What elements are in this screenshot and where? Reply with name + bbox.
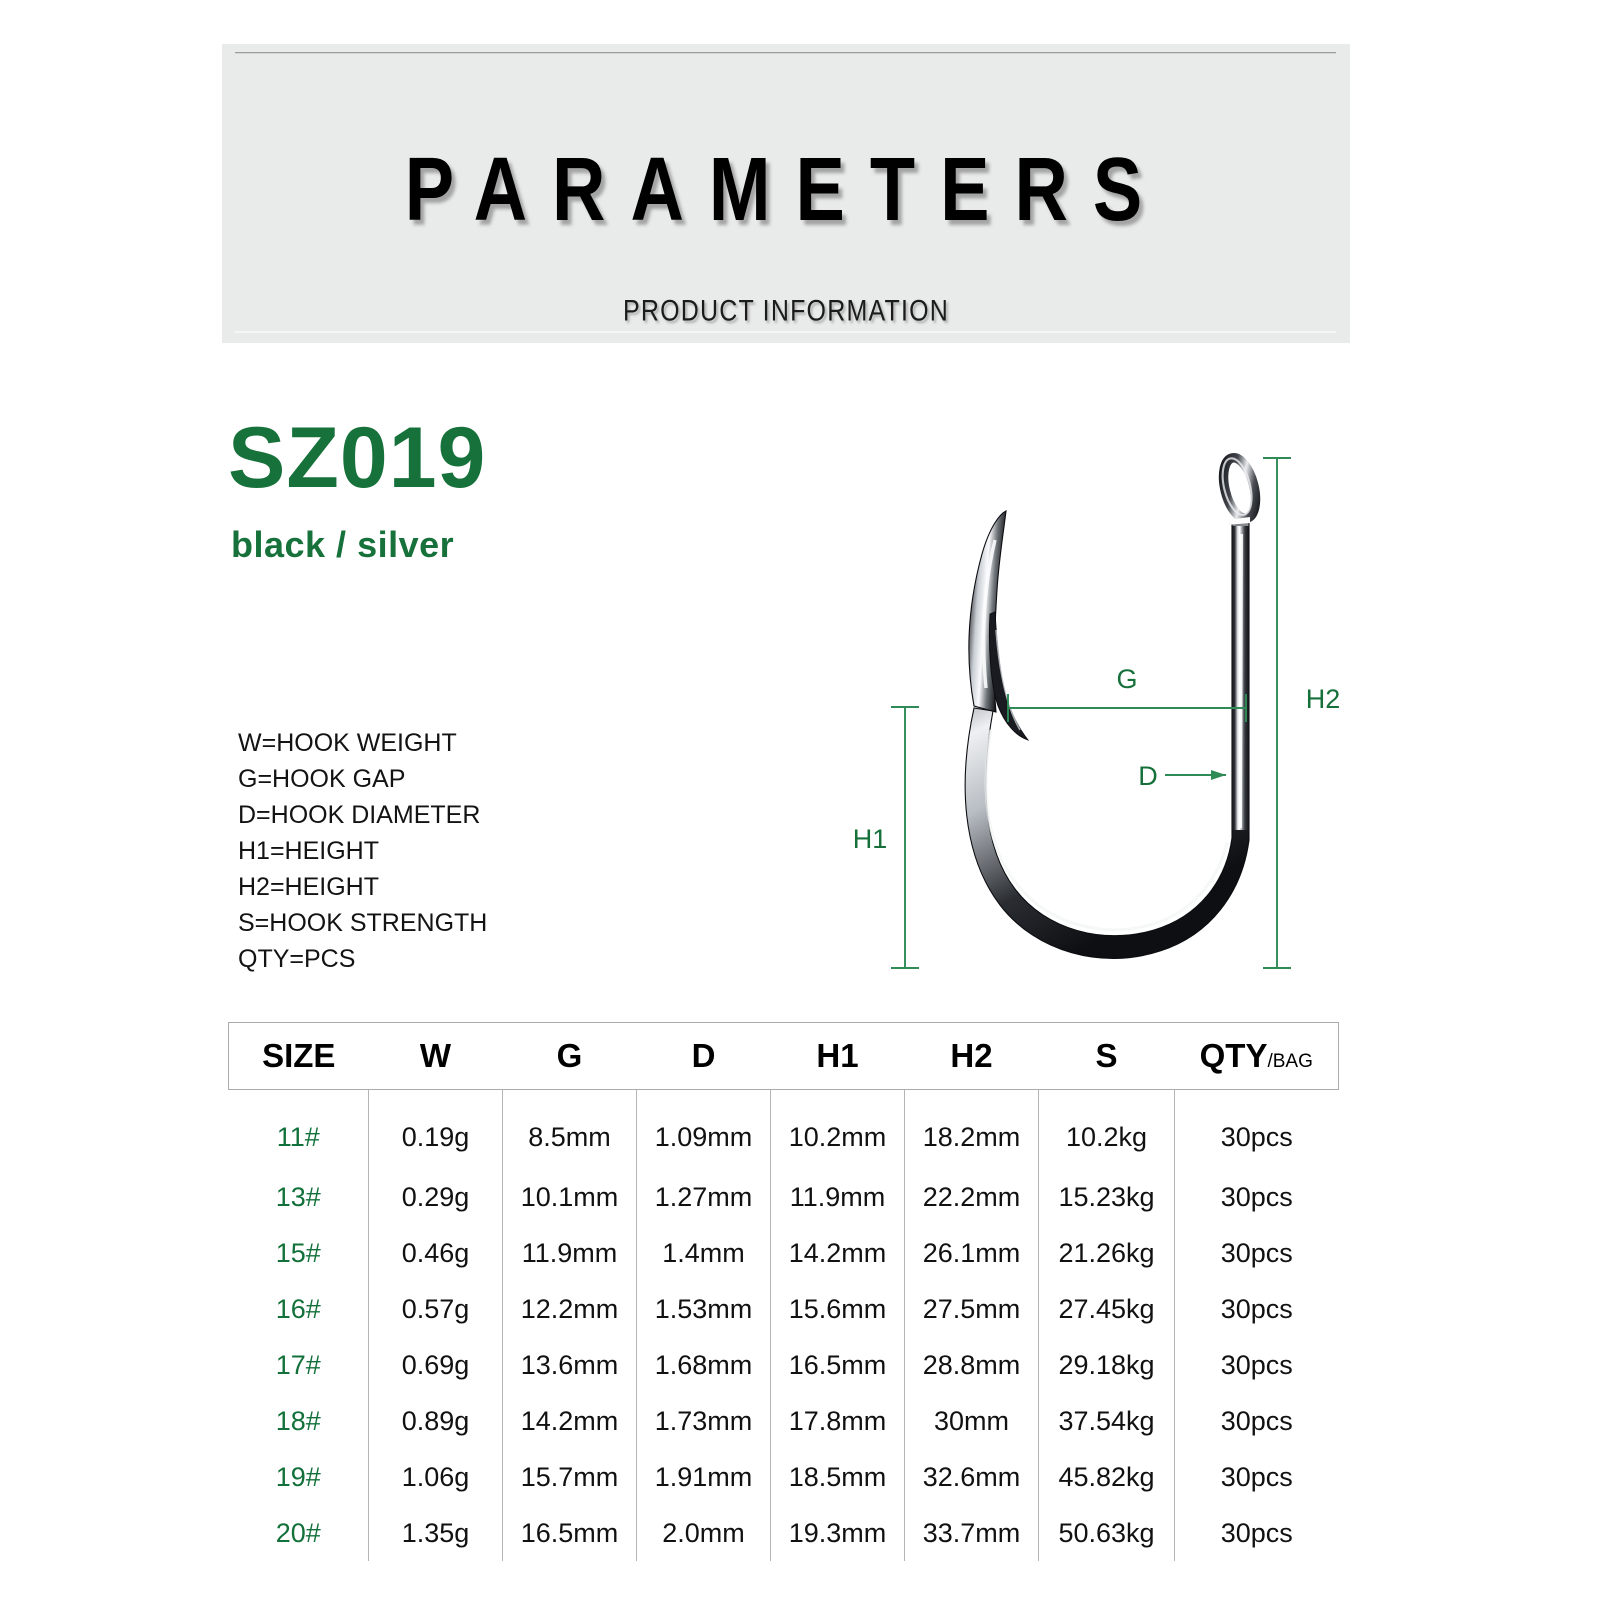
- table-header-row: SIZE W G D H1 H2 S QTY/BAG: [229, 1023, 1339, 1090]
- cell-h2: 32.6mm: [905, 1449, 1039, 1505]
- column-header-g: G: [503, 1023, 637, 1090]
- cell-w: 1.35g: [369, 1505, 503, 1561]
- banner-bottom-rule: [235, 331, 1336, 333]
- legend-item: H2=HEIGHT: [238, 869, 487, 905]
- cell-w: 0.19g: [369, 1090, 503, 1170]
- cell-s: 15.23kg: [1039, 1169, 1175, 1225]
- fishing-hook-illustration: [965, 454, 1261, 958]
- banner-top-rule: [235, 52, 1336, 53]
- cell-w: 0.29g: [369, 1169, 503, 1225]
- cell-h2: 33.7mm: [905, 1505, 1039, 1561]
- cell-d: 1.4mm: [637, 1225, 771, 1281]
- cell-w: 0.57g: [369, 1281, 503, 1337]
- cell-d: 1.73mm: [637, 1393, 771, 1449]
- cell-qty: 30pcs: [1175, 1505, 1339, 1561]
- cell-w: 0.69g: [369, 1337, 503, 1393]
- cell-h2: 30mm: [905, 1393, 1039, 1449]
- cell-size: 13#: [229, 1169, 369, 1225]
- cell-w: 0.89g: [369, 1393, 503, 1449]
- column-header-qty-suffix: /BAG: [1267, 1051, 1312, 1072]
- specification-table-wrapper: SIZE W G D H1 H2 S QTY/BAG 11# 0.19g 8.5…: [228, 1022, 1338, 1561]
- cell-g: 11.9mm: [503, 1225, 637, 1281]
- cell-h1: 15.6mm: [771, 1281, 905, 1337]
- dimension-diameter: [1165, 770, 1226, 780]
- table-row: 16# 0.57g 12.2mm 1.53mm 15.6mm 27.5mm 27…: [229, 1281, 1339, 1337]
- abbreviation-legend: W=HOOK WEIGHT G=HOOK GAP D=HOOK DIAMETER…: [238, 725, 487, 977]
- cell-s: 50.63kg: [1039, 1505, 1175, 1561]
- cell-h1: 16.5mm: [771, 1337, 905, 1393]
- cell-s: 45.82kg: [1039, 1449, 1175, 1505]
- cell-s: 21.26kg: [1039, 1225, 1175, 1281]
- legend-item: H1=HEIGHT: [238, 833, 487, 869]
- table-row: 19# 1.06g 15.7mm 1.91mm 18.5mm 32.6mm 45…: [229, 1449, 1339, 1505]
- dimension-gap: [1008, 694, 1246, 722]
- cell-h1: 19.3mm: [771, 1505, 905, 1561]
- column-header-size: SIZE: [229, 1023, 369, 1090]
- cell-qty: 30pcs: [1175, 1225, 1339, 1281]
- cell-qty: 30pcs: [1175, 1449, 1339, 1505]
- cell-g: 10.1mm: [503, 1169, 637, 1225]
- dimension-height1: [891, 707, 919, 968]
- cell-g: 14.2mm: [503, 1393, 637, 1449]
- table-row: 20# 1.35g 16.5mm 2.0mm 19.3mm 33.7mm 50.…: [229, 1505, 1339, 1561]
- dimension-label-gap: G: [1116, 664, 1137, 694]
- cell-g: 12.2mm: [503, 1281, 637, 1337]
- table-body: 11# 0.19g 8.5mm 1.09mm 10.2mm 18.2mm 10.…: [229, 1090, 1339, 1562]
- parameters-banner: PARAMETERS PRODUCT INFORMATION: [222, 44, 1350, 343]
- cell-h2: 18.2mm: [905, 1090, 1039, 1170]
- column-header-qty-main: QTY: [1200, 1037, 1268, 1074]
- cell-g: 16.5mm: [503, 1505, 637, 1561]
- cell-h2: 26.1mm: [905, 1225, 1039, 1281]
- dimension-label-diameter: D: [1138, 761, 1158, 791]
- cell-d: 1.53mm: [637, 1281, 771, 1337]
- cell-s: 29.18kg: [1039, 1337, 1175, 1393]
- dimension-label-height1: H1: [853, 824, 888, 854]
- cell-size: 19#: [229, 1449, 369, 1505]
- cell-qty: 30pcs: [1175, 1337, 1339, 1393]
- cell-qty: 30pcs: [1175, 1169, 1339, 1225]
- cell-size: 17#: [229, 1337, 369, 1393]
- cell-g: 8.5mm: [503, 1090, 637, 1170]
- table-row: 15# 0.46g 11.9mm 1.4mm 14.2mm 26.1mm 21.…: [229, 1225, 1339, 1281]
- cell-d: 1.91mm: [637, 1449, 771, 1505]
- cell-size: 15#: [229, 1225, 369, 1281]
- cell-h1: 17.8mm: [771, 1393, 905, 1449]
- product-model: SZ019: [228, 415, 486, 501]
- cell-qty: 30pcs: [1175, 1090, 1339, 1170]
- column-header-h1: H1: [771, 1023, 905, 1090]
- cell-d: 1.68mm: [637, 1337, 771, 1393]
- cell-d: 1.27mm: [637, 1169, 771, 1225]
- cell-d: 1.09mm: [637, 1090, 771, 1170]
- product-variant: black / silver: [231, 527, 454, 563]
- column-header-s: S: [1039, 1023, 1175, 1090]
- hook-diagram: G H1 H2 D: [840, 430, 1360, 990]
- dimension-label-height2: H2: [1306, 684, 1341, 714]
- cell-g: 15.7mm: [503, 1449, 637, 1505]
- page-subtitle: PRODUCT INFORMATION: [222, 294, 1350, 329]
- column-header-qty: QTY/BAG: [1175, 1023, 1339, 1090]
- cell-h1: 10.2mm: [771, 1090, 905, 1170]
- cell-size: 16#: [229, 1281, 369, 1337]
- table-row: 18# 0.89g 14.2mm 1.73mm 17.8mm 30mm 37.5…: [229, 1393, 1339, 1449]
- cell-qty: 30pcs: [1175, 1393, 1339, 1449]
- table-row: 17# 0.69g 13.6mm 1.68mm 16.5mm 28.8mm 29…: [229, 1337, 1339, 1393]
- cell-size: 11#: [229, 1090, 369, 1170]
- cell-size: 20#: [229, 1505, 369, 1561]
- cell-d: 2.0mm: [637, 1505, 771, 1561]
- cell-qty: 30pcs: [1175, 1281, 1339, 1337]
- column-header-w: W: [369, 1023, 503, 1090]
- cell-w: 1.06g: [369, 1449, 503, 1505]
- cell-h2: 28.8mm: [905, 1337, 1039, 1393]
- cell-h1: 14.2mm: [771, 1225, 905, 1281]
- page-title: PARAMETERS: [222, 137, 1350, 241]
- dimension-height2: [1263, 458, 1291, 968]
- legend-item: QTY=PCS: [238, 941, 487, 977]
- cell-h2: 22.2mm: [905, 1169, 1039, 1225]
- cell-h1: 18.5mm: [771, 1449, 905, 1505]
- legend-item: S=HOOK STRENGTH: [238, 905, 487, 941]
- cell-h1: 11.9mm: [771, 1169, 905, 1225]
- table-row: 11# 0.19g 8.5mm 1.09mm 10.2mm 18.2mm 10.…: [229, 1090, 1339, 1170]
- cell-g: 13.6mm: [503, 1337, 637, 1393]
- table-row: 13# 0.29g 10.1mm 1.27mm 11.9mm 22.2mm 15…: [229, 1169, 1339, 1225]
- hook-bend-and-shank: [965, 522, 1249, 958]
- column-header-h2: H2: [905, 1023, 1039, 1090]
- cell-s: 10.2kg: [1039, 1090, 1175, 1170]
- legend-item: W=HOOK WEIGHT: [238, 725, 487, 761]
- specification-table: SIZE W G D H1 H2 S QTY/BAG 11# 0.19g 8.5…: [228, 1022, 1339, 1561]
- cell-s: 27.45kg: [1039, 1281, 1175, 1337]
- legend-item: D=HOOK DIAMETER: [238, 797, 487, 833]
- column-header-d: D: [637, 1023, 771, 1090]
- cell-h2: 27.5mm: [905, 1281, 1039, 1337]
- cell-s: 37.54kg: [1039, 1393, 1175, 1449]
- cell-w: 0.46g: [369, 1225, 503, 1281]
- cell-size: 18#: [229, 1393, 369, 1449]
- legend-item: G=HOOK GAP: [238, 761, 487, 797]
